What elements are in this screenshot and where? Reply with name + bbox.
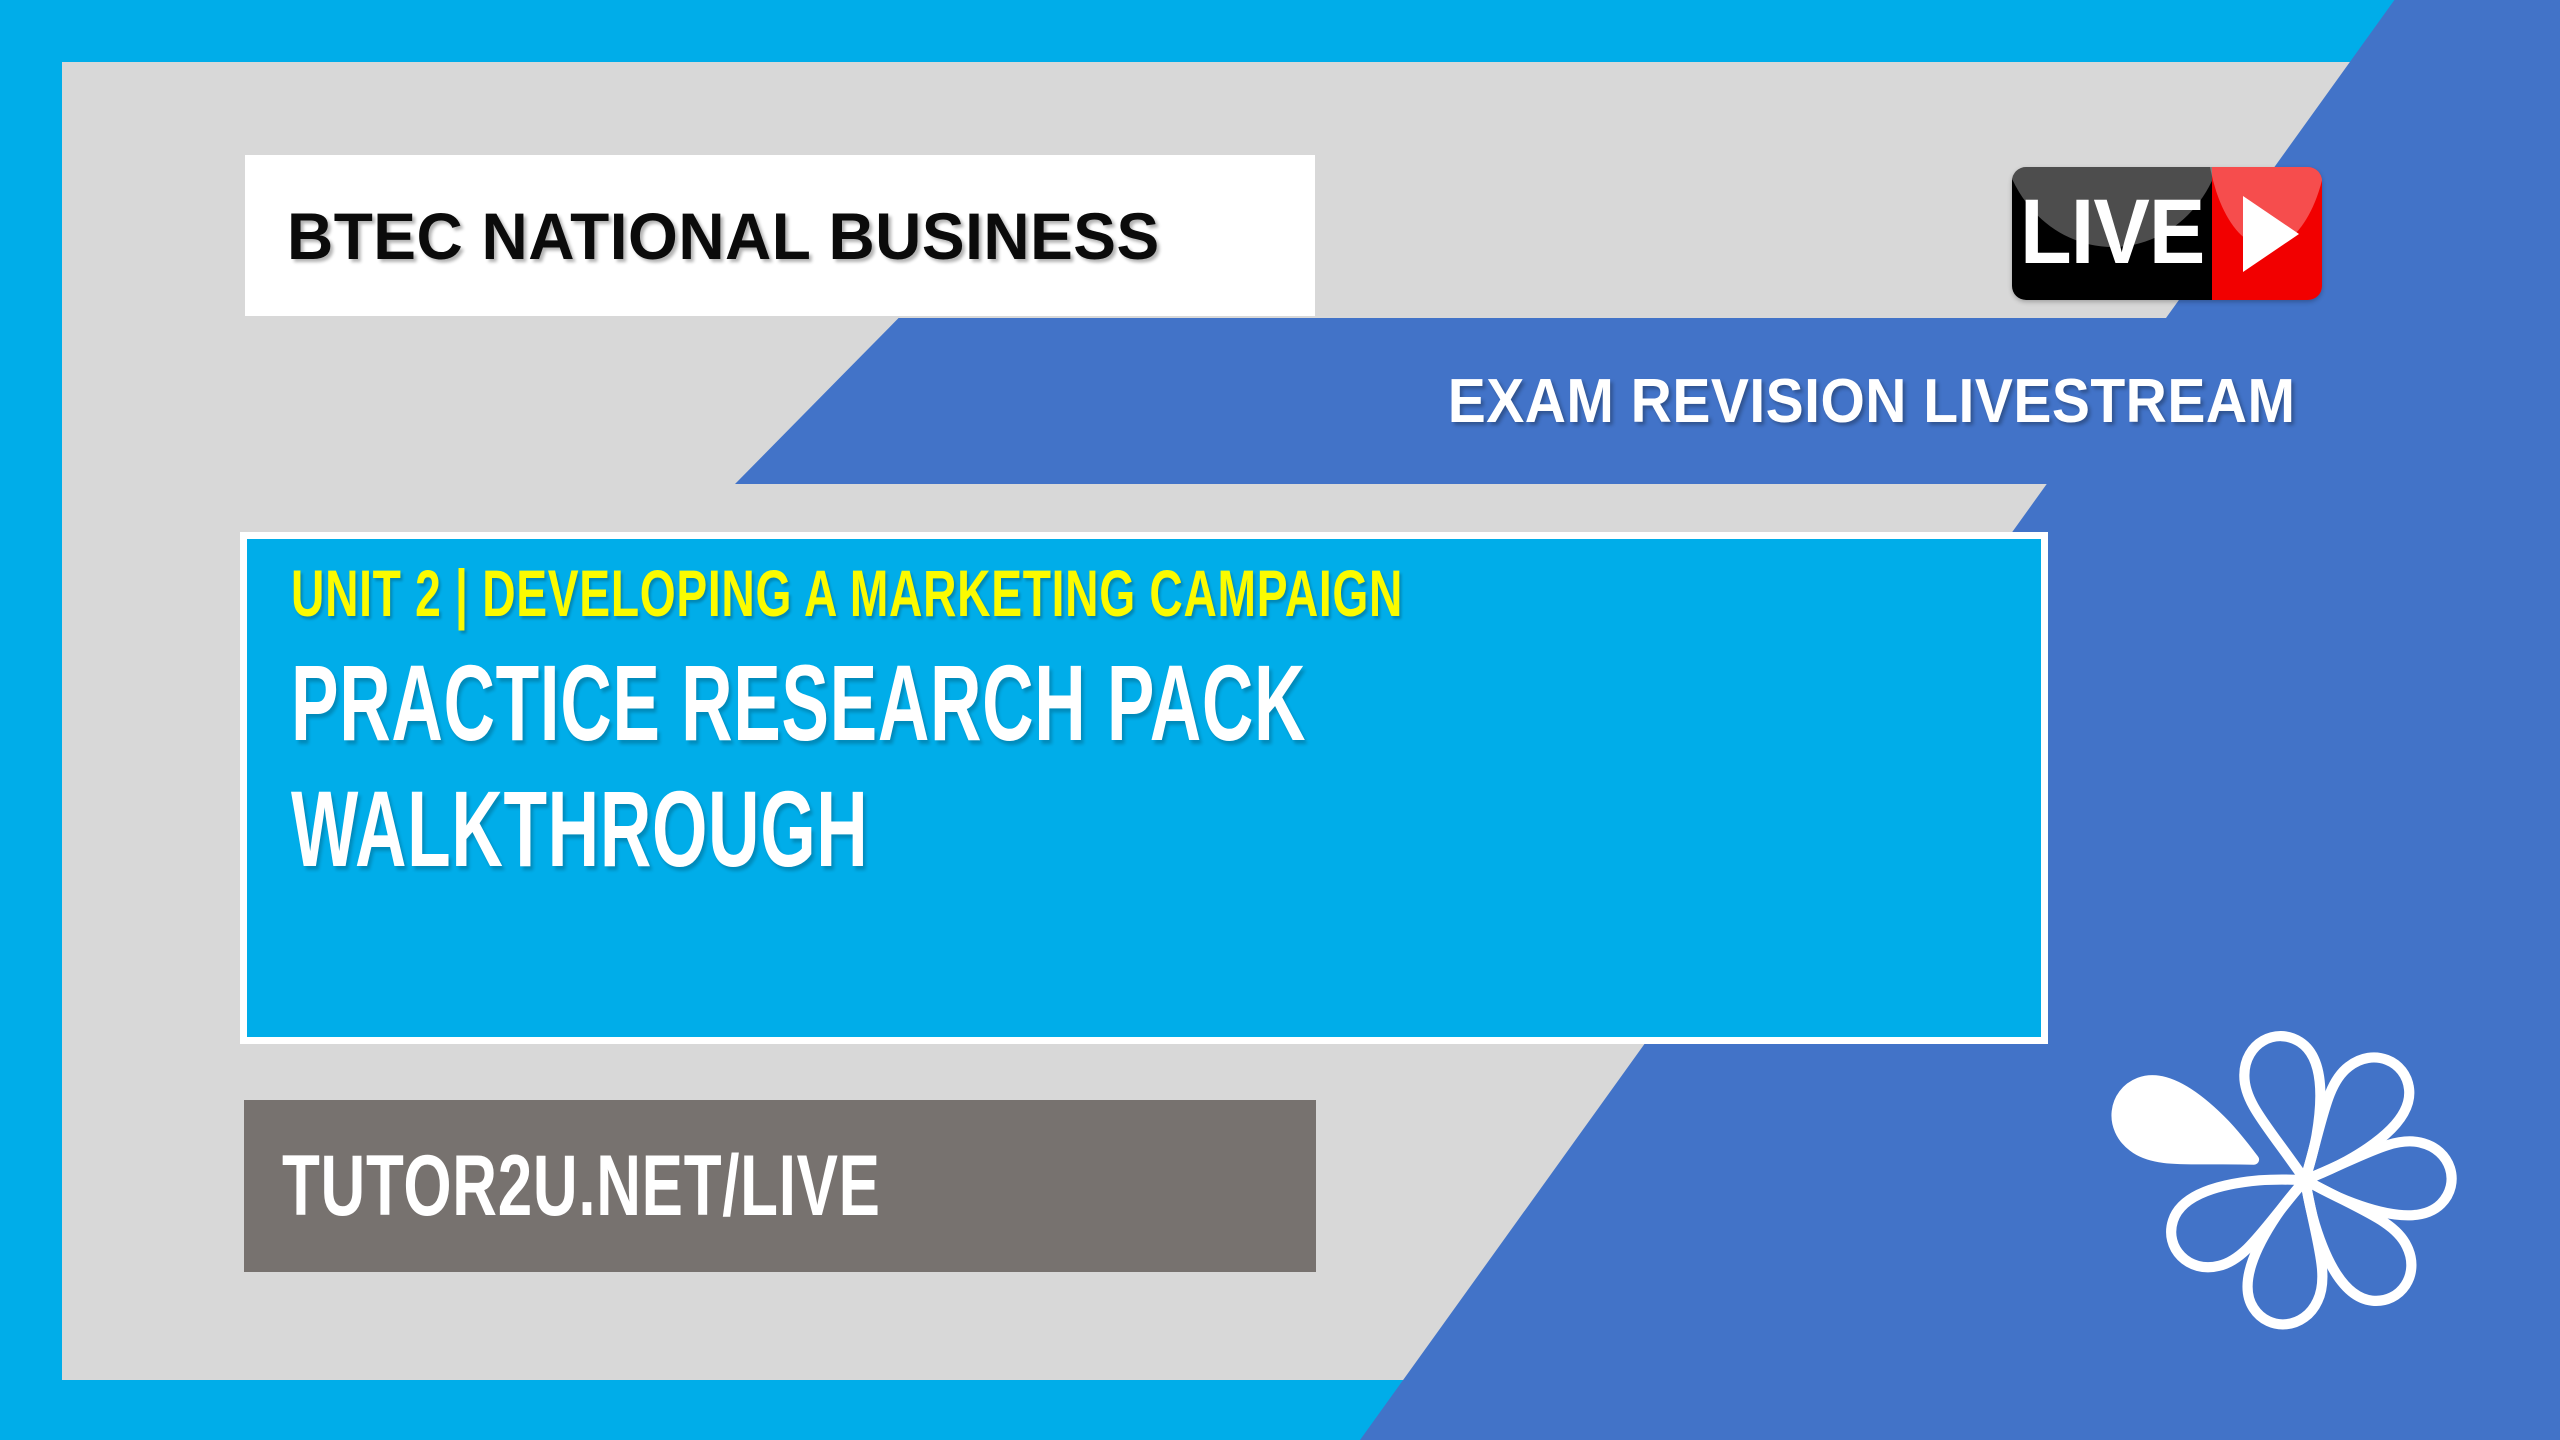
flower-logo-svg — [2110, 1010, 2500, 1350]
play-triangle-icon — [2243, 196, 2299, 272]
flower-petal-outlined-3 — [2305, 1141, 2452, 1215]
main-heading-line-2: WALKTHROUGH — [291, 763, 1446, 895]
tutor2u-flower-logo — [2110, 1010, 2500, 1350]
main-heading-line-1: PRACTICE RESEARCH PACK — [291, 637, 1446, 769]
main-topic-panel: UNIT 2 | DEVELOPING A MARKETING CAMPAIGN… — [240, 532, 2048, 1044]
qualification-title-text: BTEC NATIONAL BUSINESS — [287, 198, 1160, 274]
exam-revision-banner: EXAM REVISION LIVESTREAM — [735, 318, 2323, 484]
live-badge: LIVE — [2012, 167, 2322, 300]
exam-revision-banner-text: EXAM REVISION LIVESTREAM — [1447, 366, 2295, 437]
url-text: TUTOR2U.NET/LIVE — [282, 1137, 881, 1236]
live-badge-red-section — [2212, 167, 2322, 300]
live-badge-label: LIVE — [2020, 186, 2204, 278]
flower-outlined-petals — [2158, 1029, 2451, 1331]
live-badge-black-section: LIVE — [2012, 167, 2212, 300]
url-bar: TUTOR2U.NET/LIVE — [244, 1100, 1316, 1272]
thumbnail-canvas: BTEC NATIONAL BUSINESS LIVE EXAM REVISIO… — [0, 0, 2560, 1440]
qualification-title-box: BTEC NATIONAL BUSINESS — [245, 155, 1315, 316]
unit-subtitle-text: UNIT 2 | DEVELOPING A MARKETING CAMPAIGN — [291, 557, 1516, 631]
